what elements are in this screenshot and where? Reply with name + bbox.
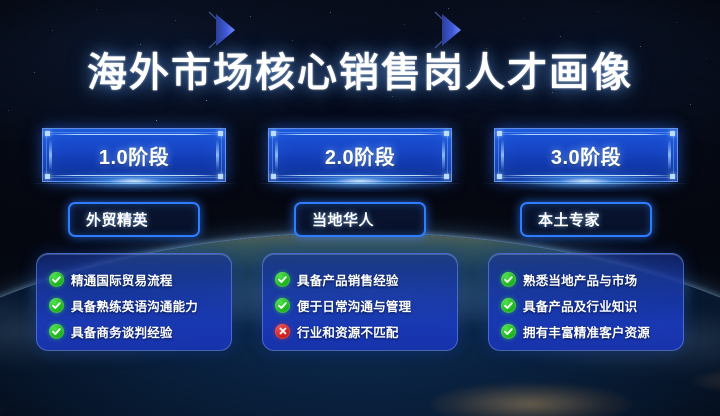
trait-item-label: 熟悉当地产品与市场: [523, 270, 637, 289]
banner-corner-tick: [670, 174, 675, 179]
banner-corner-tick: [497, 174, 502, 179]
banner-glow: [275, 170, 445, 192]
stage-traits-card: 具备产品销售经验便于日常沟通与管理行业和资源不匹配: [262, 253, 458, 351]
trait-item: 具备熟练英语沟通能力: [49, 292, 231, 318]
trait-item-label: 具备熟练英语沟通能力: [71, 296, 198, 315]
stage-banner-label: 3.0阶段: [551, 141, 621, 170]
check-circle-icon: [49, 272, 64, 287]
stage-banner[interactable]: 1.0阶段: [42, 128, 226, 182]
check-circle-icon: [501, 298, 516, 313]
stage-traits-card: 熟悉当地产品与市场具备产品及行业知识拥有丰富精准客户资源: [488, 253, 684, 351]
banner-corner-tick: [45, 131, 50, 136]
banner-underline: [483, 183, 689, 184]
banner-side-accent: [668, 139, 671, 171]
banner-underline: [257, 183, 463, 184]
banner-side-accent: [275, 139, 278, 171]
trait-item-label: 具备产品及行业知识: [523, 296, 637, 315]
check-circle-icon: [501, 272, 516, 287]
page-title: 海外市场核心销售岗人才画像: [0, 40, 720, 98]
stage-column: 3.0阶段本土专家熟悉当地产品与市场具备产品及行业知识拥有丰富精准客户资源: [486, 128, 686, 351]
banner-corner-tick: [271, 174, 276, 179]
trait-item-label: 精通国际贸易流程: [71, 270, 173, 289]
trait-item: 具备商务谈判经验: [49, 318, 231, 344]
banner-side-accent: [501, 139, 504, 171]
banner-corner-tick: [218, 131, 223, 136]
check-circle-icon: [275, 298, 290, 313]
stage-banner-label: 1.0阶段: [99, 141, 169, 170]
trait-item: 拥有丰富精准客户资源: [501, 318, 683, 344]
banner-corner-tick: [670, 131, 675, 136]
stage-banner-label: 2.0阶段: [325, 141, 395, 170]
banner-underline: [31, 183, 237, 184]
trait-item-label: 便于日常沟通与管理: [297, 296, 411, 315]
stage-column: 2.0阶段当地华人具备产品销售经验便于日常沟通与管理行业和资源不匹配: [260, 128, 460, 351]
banner-corner-tick: [444, 131, 449, 136]
stage-banner[interactable]: 3.0阶段: [494, 128, 678, 182]
trait-item-label: 具备产品销售经验: [297, 270, 399, 289]
trait-item-label: 行业和资源不匹配: [297, 322, 399, 341]
banner-corner-tick: [271, 131, 276, 136]
stage-banner[interactable]: 2.0阶段: [268, 128, 452, 182]
check-circle-icon: [49, 324, 64, 339]
banner-corner-tick: [218, 174, 223, 179]
trait-item: 行业和资源不匹配: [275, 318, 457, 344]
banner-side-accent: [49, 139, 52, 171]
check-circle-icon: [501, 324, 516, 339]
trait-item: 便于日常沟通与管理: [275, 292, 457, 318]
infographic-slide: 海外市场核心销售岗人才画像 1.0阶段外贸精英精通国际贸易流程具备熟练英语沟通能…: [0, 0, 720, 416]
stage-columns: 1.0阶段外贸精英精通国际贸易流程具备熟练英语沟通能力具备商务谈判经验2.0阶段…: [0, 128, 720, 351]
banner-corner-tick: [45, 174, 50, 179]
trait-item: 具备产品及行业知识: [501, 292, 683, 318]
cross-circle-icon: [275, 324, 290, 339]
trait-item-label: 具备商务谈判经验: [71, 322, 173, 341]
trait-item: 熟悉当地产品与市场: [501, 266, 683, 292]
trait-item-label: 拥有丰富精准客户资源: [523, 322, 650, 341]
trait-item: 具备产品销售经验: [275, 266, 457, 292]
stage-role-pill[interactable]: 本土专家: [520, 202, 652, 237]
banner-corner-tick: [497, 131, 502, 136]
trait-item: 精通国际贸易流程: [49, 266, 231, 292]
check-circle-icon: [275, 272, 290, 287]
check-circle-icon: [49, 298, 64, 313]
banner-glow: [501, 170, 671, 192]
banner-corner-tick: [444, 174, 449, 179]
stage-column: 1.0阶段外贸精英精通国际贸易流程具备熟练英语沟通能力具备商务谈判经验: [34, 128, 234, 351]
stage-role-pill[interactable]: 当地华人: [294, 202, 426, 237]
stage-traits-card: 精通国际贸易流程具备熟练英语沟通能力具备商务谈判经验: [36, 253, 232, 351]
banner-side-accent: [442, 139, 445, 171]
stage-role-pill[interactable]: 外贸精英: [68, 202, 200, 237]
banner-side-accent: [216, 139, 219, 171]
banner-glow: [49, 170, 219, 192]
